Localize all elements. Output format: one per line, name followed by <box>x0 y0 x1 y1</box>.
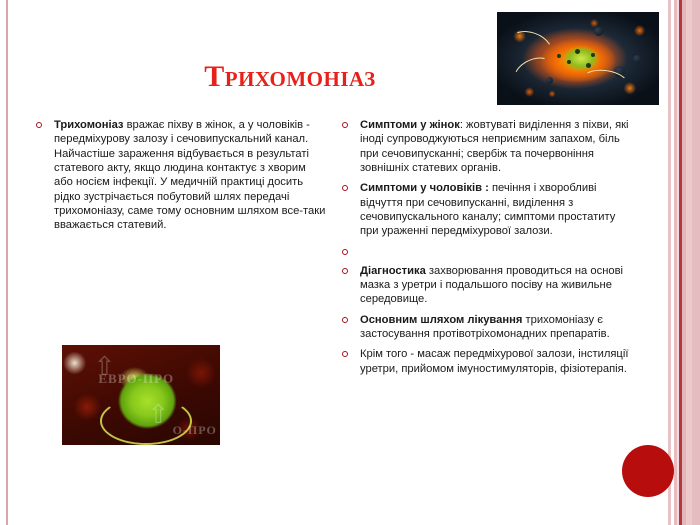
list-item: Крім того - масаж передміхурової залози,… <box>336 347 632 376</box>
right-bullet-list: Симптоми у жінок: жовтуваті виділення з … <box>336 118 632 376</box>
left-text-column: Трихомоніаз вражає піхву в жінок, а у чо… <box>30 118 326 239</box>
right-text-column: Симптоми у жінок: жовтуваті виділення з … <box>336 118 632 382</box>
watermark-text: ЕВРО-ПРО <box>98 371 174 387</box>
list-item-empty <box>336 245 632 258</box>
bullet-body-text: вражає піхву в жінок, а у чоловіків - пе… <box>54 119 325 231</box>
list-item: Діагностика захворювання проводиться на … <box>336 264 632 307</box>
bullet-body-text: Крім того - масаж передміхурової залози,… <box>360 348 628 374</box>
list-item: Симптоми у жінок: жовтуваті виділення з … <box>336 118 632 175</box>
list-item: Трихомоніаз вражає піхву в жінок, а у чо… <box>30 118 326 233</box>
sem-micrograph-image: ⇧ ⇧ ЕВРО-ПРО О-ПРО <box>62 345 220 445</box>
slide: Трихомоніаз Трихомоніаз вражає піхву в ж… <box>0 0 700 525</box>
bullet-lead-text: Симптоми у жінок <box>360 119 460 131</box>
watermark-arrow-icon: ⇧ <box>94 353 116 379</box>
bullet-lead-text: Симптоми у чоловіків : <box>360 182 489 194</box>
trichomonad-micrograph-image <box>497 12 659 105</box>
list-item: Симптоми у чоловіків : печіння і хворобл… <box>336 181 632 238</box>
list-item: Основним шляхом лікування трихомоніазу є… <box>336 313 632 342</box>
left-bullet-list: Трихомоніаз вражає піхву в жінок, а у чо… <box>30 118 326 233</box>
cell-rim <box>100 397 192 445</box>
bullet-lead-text: Основним шляхом лікування <box>360 314 522 326</box>
red-circle-decoration <box>622 445 674 497</box>
bullet-lead-text: Діагностика <box>360 265 426 277</box>
bullet-lead-text: Трихомоніаз <box>54 119 124 131</box>
